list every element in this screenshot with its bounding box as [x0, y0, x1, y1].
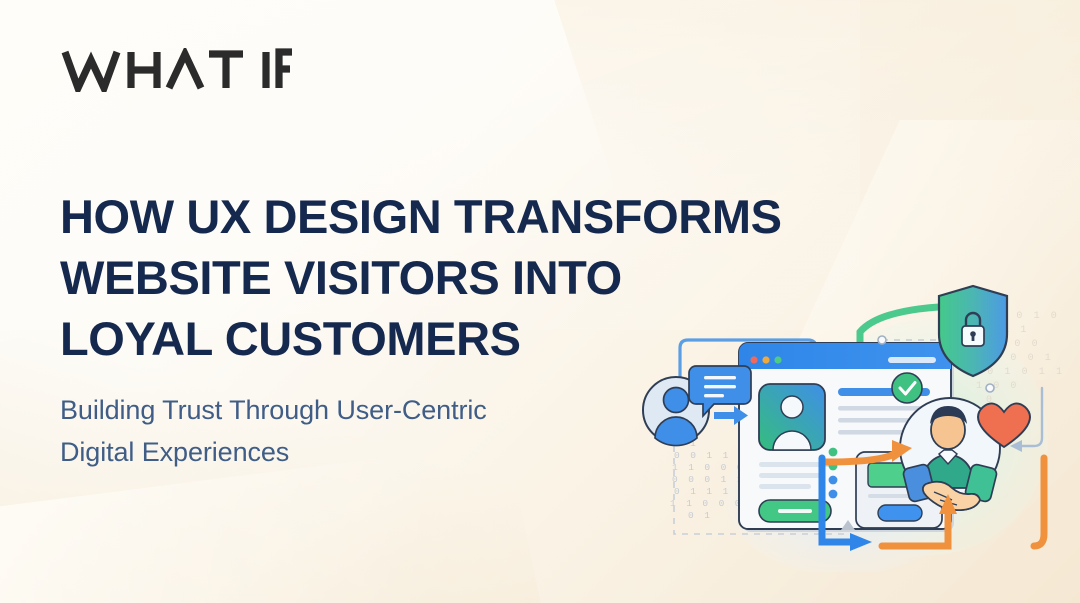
- page-subtitle: Building Trust Through User-Centric Digi…: [60, 389, 680, 473]
- brand-logo: WHAT IF: [61, 48, 293, 92]
- svg-text:0 1 1 1: 0 1 1 1: [674, 486, 731, 497]
- background-wedge-bottom-left: [0, 453, 420, 603]
- window-maximize-dot-icon: [774, 356, 781, 363]
- cta-button-blue[interactable]: [878, 505, 922, 521]
- subtitle-line-1: Building Trust Through User-Centric: [60, 389, 680, 431]
- headline-line-1: HOW UX DESIGN TRANSFORMS: [60, 186, 960, 247]
- ux-trust-flow-illustration: 0 0 1 1 1 1 1 0 0 0 0 0 0 0 1 1 0 0 1 1 …: [630, 262, 1080, 572]
- check-circle-icon: [892, 373, 922, 403]
- path-node-dot-icon: [878, 336, 886, 344]
- profile-card[interactable]: [759, 384, 825, 450]
- svg-text:1 0 0: 1 0 0: [976, 381, 1019, 392]
- window-close-dot-icon: [750, 356, 757, 363]
- svg-text:0 0 1 1 1: 0 0 1 1 1: [674, 450, 747, 461]
- logo-wordmark-icon: [61, 48, 293, 92]
- window-minimize-dot-icon: [762, 356, 769, 363]
- slide-canvas: WHAT IF HOW UX DESIGN TRANSFORMS WEBSITE…: [0, 0, 1080, 603]
- subtitle-line-2: Digital Experiences: [60, 431, 680, 473]
- window-address-bar: [888, 357, 936, 363]
- path-node-dot-right-icon: [986, 384, 994, 392]
- svg-text:0 1: 0 1: [688, 510, 712, 521]
